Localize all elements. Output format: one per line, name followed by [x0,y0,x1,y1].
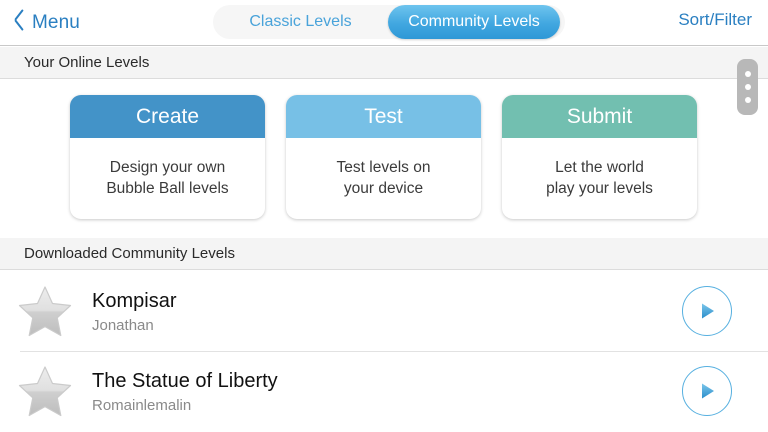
dot-3 [745,97,751,103]
dot-1 [745,71,751,77]
card-create-description: Design your ownBubble Ball levels [70,138,265,219]
card-submit[interactable]: Submit Let the worldplay your levels [502,95,697,219]
card-test-header: Test [286,95,481,138]
action-cards-row: Create Design your ownBubble Ball levels… [70,95,698,219]
back-to-menu-button[interactable]: Menu [14,8,80,38]
card-create-header: Create [70,95,265,138]
card-create[interactable]: Create Design your ownBubble Ball levels [70,95,265,219]
card-submit-description: Let the worldplay your levels [502,138,697,219]
level-name: The Statue of Liberty [92,369,682,393]
levels-segmented-control[interactable]: Classic Levels Community Levels [213,5,565,39]
list-item[interactable]: Kompisar Jonathan [0,271,768,351]
three-dots-vertical-icon[interactable] [737,59,758,115]
section-header-downloaded-levels-label: Downloaded Community Levels [24,245,235,262]
list-item[interactable]: The Statue of Liberty Romainlemalin [0,351,768,431]
sort-filter-button[interactable]: Sort/Filter [678,10,752,30]
back-button-label: Menu [32,12,80,34]
list-item-text: Kompisar Jonathan [80,289,682,334]
tab-community-levels[interactable]: Community Levels [388,5,560,39]
section-header-downloaded-levels: Downloaded Community Levels [0,238,768,270]
card-test[interactable]: Test Test levels onyour device [286,95,481,219]
top-navigation-bar: Menu Classic Levels Community Levels Sor… [0,0,768,46]
star-icon [10,284,80,338]
section-header-online-levels: Your Online Levels [0,47,768,79]
downloaded-levels-list: Kompisar Jonathan [0,271,768,431]
section-header-online-levels-label: Your Online Levels [24,54,149,71]
level-author: Jonathan [92,317,682,334]
list-item-text: The Statue of Liberty Romainlemalin [80,369,682,414]
level-author: Romainlemalin [92,397,682,414]
level-name: Kompisar [92,289,682,313]
card-test-description: Test levels onyour device [286,138,481,219]
chevron-left-icon [14,14,25,33]
app-root: Menu Classic Levels Community Levels Sor… [0,0,768,432]
play-icon[interactable] [682,366,732,416]
play-icon[interactable] [682,286,732,336]
card-submit-header: Submit [502,95,697,138]
tab-classic-levels[interactable]: Classic Levels [213,5,388,39]
star-icon [10,364,80,418]
dot-2 [745,84,751,90]
